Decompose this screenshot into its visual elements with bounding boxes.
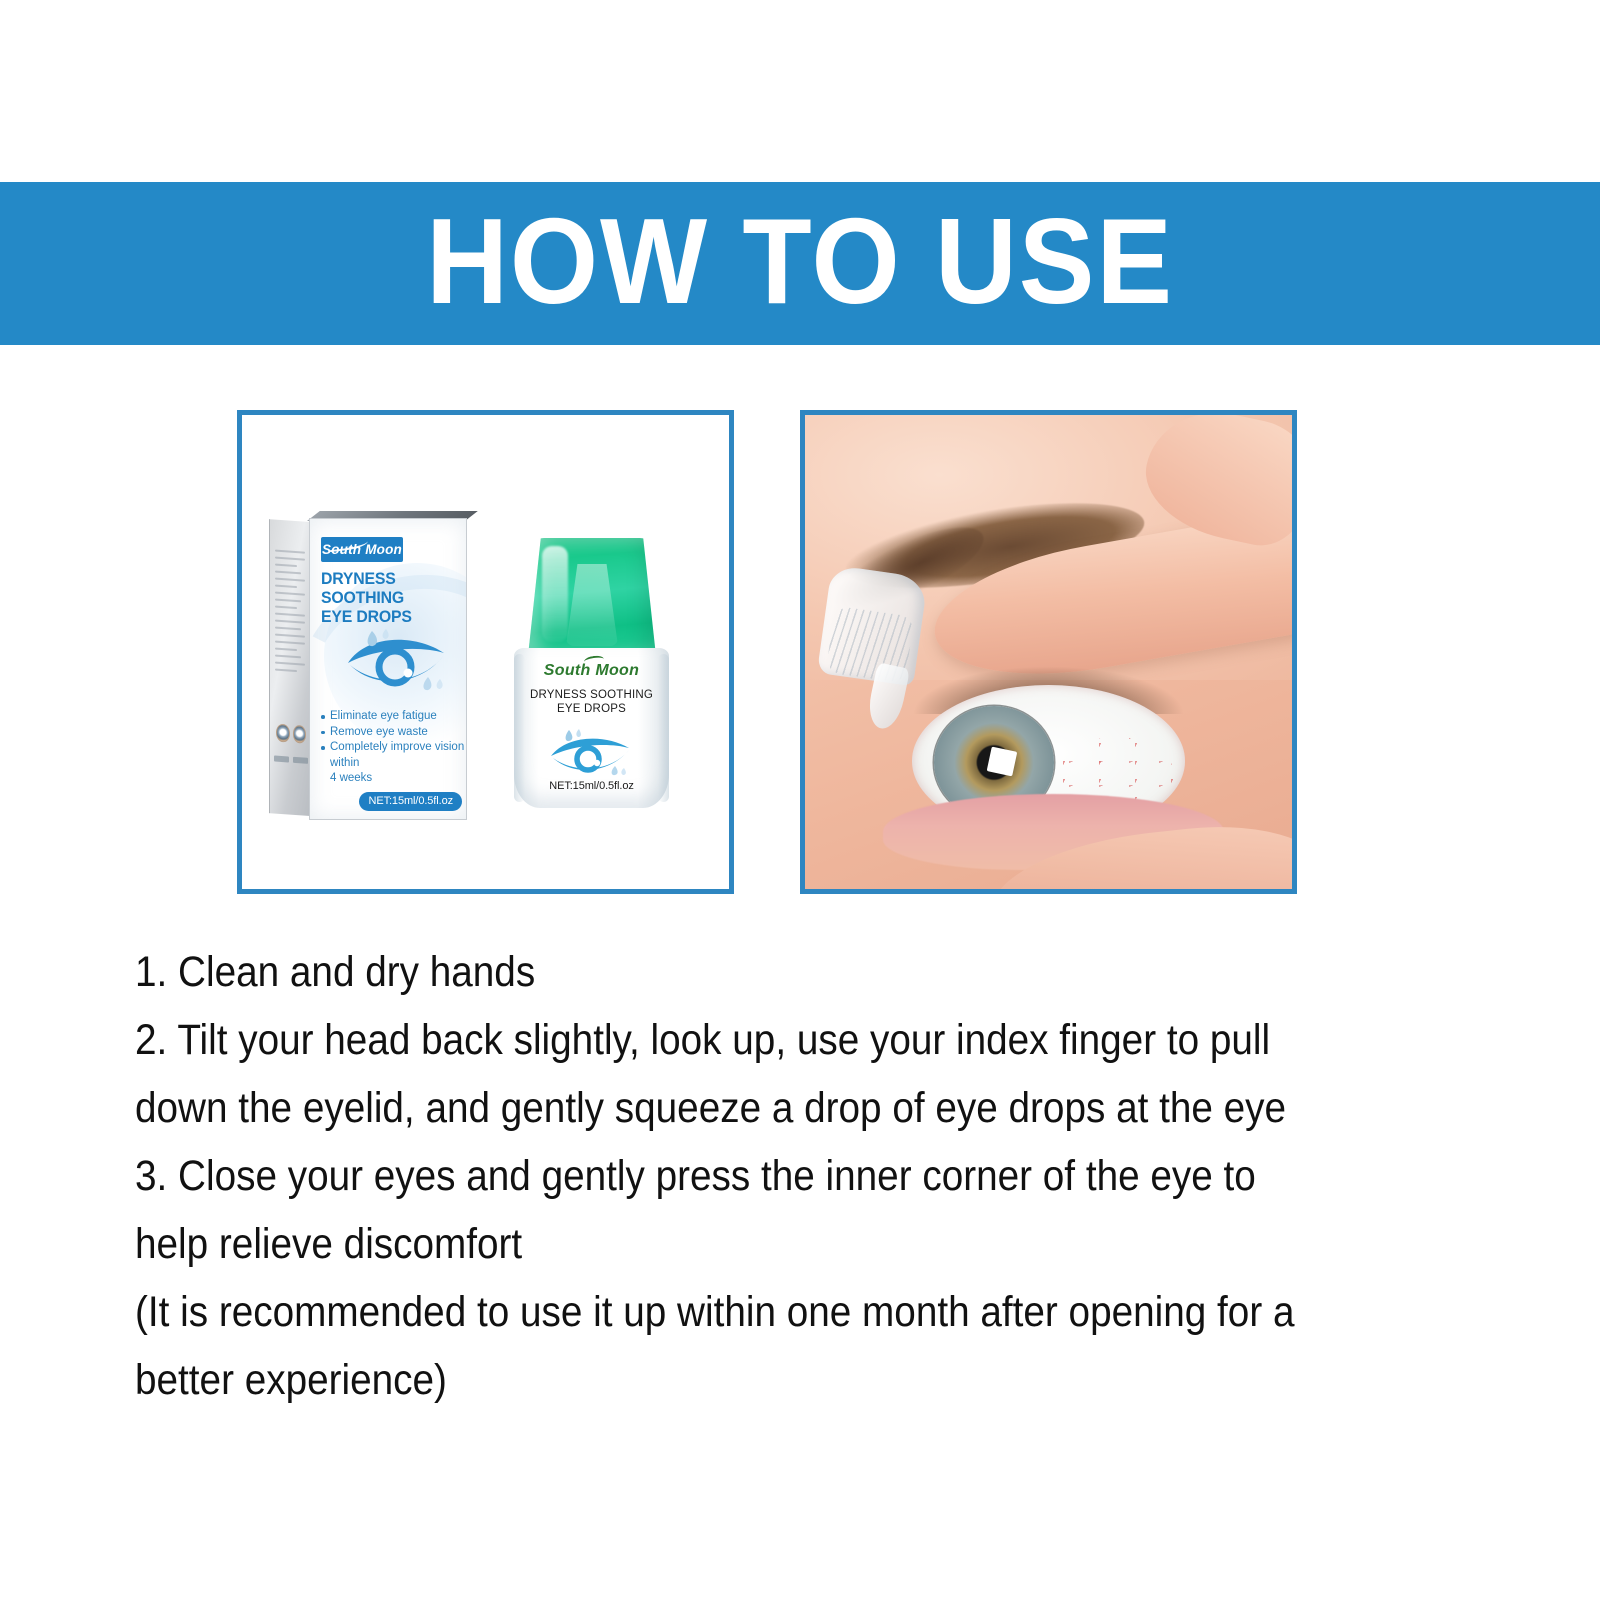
instruction-line: 1. Clean and dry hands <box>135 938 1323 1006</box>
eye-icon <box>293 725 307 744</box>
bottle-product-title: DRYNESS SOOTHING EYE DROPS <box>514 688 669 716</box>
bottle-eye-logo <box>545 722 639 780</box>
instruction-line: help relieve discomfort <box>135 1210 1323 1278</box>
carton-front-face: South Moon DRYNESS SOOTHING EYE DROPS <box>309 518 467 820</box>
bottle-net-weight: NET:15ml/0.5fl.oz <box>514 780 669 792</box>
dropper-bottle <box>824 571 921 723</box>
application-photo-panel <box>800 410 1297 894</box>
corneal-highlight <box>987 747 1018 777</box>
carton-eye-logo <box>340 615 458 697</box>
bottle-title-line-1: DRYNESS SOOTHING <box>514 688 669 702</box>
product-carton: South Moon DRYNESS SOOTHING EYE DROPS <box>269 518 465 818</box>
usage-instructions: 1. Clean and dry hands 2. Tilt your head… <box>135 938 1323 1414</box>
carton-benefit-item: Completely improve vision within <box>321 740 467 771</box>
bottle-cap-inner-cone <box>566 564 618 646</box>
bottle-brand-name: South Moon <box>514 662 669 680</box>
instruction-line: 2. Tilt your head back slightly, look up… <box>135 1006 1323 1074</box>
carton-product-title: DRYNESS SOOTHING EYE DROPS <box>321 570 455 627</box>
carton-side-eye-icons <box>276 720 306 748</box>
carton-title-line-2: EYE DROPS <box>321 608 455 627</box>
product-scene: South Moon DRYNESS SOOTHING EYE DROPS <box>242 415 729 889</box>
carton-side-text-lines <box>275 550 305 702</box>
how-to-use-page: HOW TO USE <box>0 0 1600 1600</box>
carton-net-weight: NET:15ml/0.5fl.oz <box>359 792 462 811</box>
bottle-cap <box>528 538 656 656</box>
carton-side-footer-marks <box>274 755 308 765</box>
instruction-line: better experience) <box>135 1346 1323 1414</box>
carton-title-line-1: DRYNESS SOOTHING <box>321 570 455 608</box>
bottle-title-line-2: EYE DROPS <box>514 702 669 716</box>
product-packaging-panel: South Moon DRYNESS SOOTHING EYE DROPS <box>237 410 734 894</box>
product-bottle: South Moon DRYNESS SOOTHING EYE DROPS <box>510 538 673 808</box>
instruction-line: 3. Close your eyes and gently press the … <box>135 1142 1323 1210</box>
instruction-line: (It is recommended to use it up within o… <box>135 1278 1323 1346</box>
instruction-line: down the eyelid, and gently squeeze a dr… <box>135 1074 1323 1142</box>
carton-benefit-item: Remove eye waste <box>321 725 467 741</box>
carton-benefit-item-continuation: 4 weeks <box>321 771 467 787</box>
carton-benefit-list: Eliminate eye fatigue Remove eye waste C… <box>321 709 467 787</box>
eye-icon <box>276 724 290 743</box>
carton-brand-badge: South Moon <box>321 537 403 562</box>
bottle-cap-highlight <box>542 546 568 642</box>
bottle-body: South Moon DRYNESS SOOTHING EYE DROPS <box>514 648 669 808</box>
carton-side-panel <box>269 519 310 816</box>
eye-drop-application-photo <box>805 415 1292 889</box>
carton-benefit-item: Eliminate eye fatigue <box>321 709 467 725</box>
